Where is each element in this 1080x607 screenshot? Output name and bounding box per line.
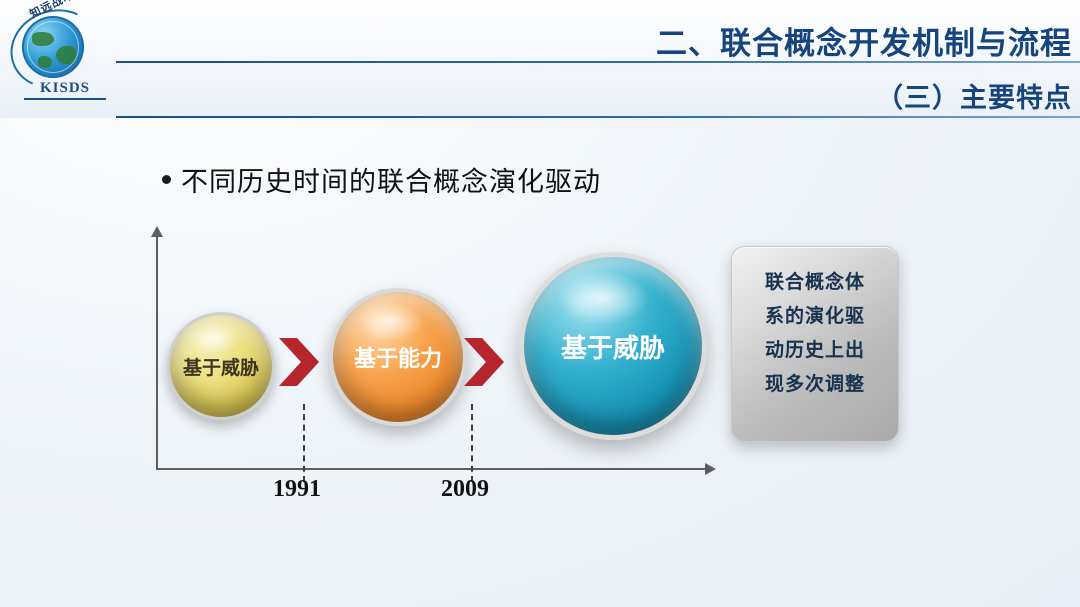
chevron-right-icon-2 (462, 336, 506, 388)
bullet-dot-icon (162, 175, 171, 184)
logo-underline (24, 98, 106, 100)
y-axis (156, 236, 158, 470)
callout-box: 联合概念体 系的演化驱 动历史上出 现多次调整 (731, 246, 899, 442)
tick-label-1991: 1991 (273, 476, 321, 503)
node-label: 基于威胁 (561, 328, 665, 365)
tick-2009 (471, 404, 473, 482)
page-subtitle: （三）主要特点 (876, 76, 1072, 115)
page-title: 二、联合概念开发机制与流程 (656, 18, 1072, 63)
callout-line-1: 联合概念体 (746, 265, 884, 299)
chevron-right-icon (277, 336, 321, 388)
callout-line-2: 系的演化驱 (746, 299, 884, 333)
x-axis (156, 468, 706, 470)
logo-acronym: KISDS (28, 80, 102, 97)
callout-line-3: 动历史上出 (746, 333, 884, 367)
callout-line-4: 现多次调整 (746, 367, 884, 401)
node-threat-based-2: 基于威胁 (519, 252, 707, 440)
node-label: 基于能力 (354, 341, 442, 373)
tick-1991 (303, 404, 305, 482)
slide: 知远战略与防务研究所 KISDS 二、联合概念开发机制与流程 （三）主要特点 不… (0, 0, 1080, 607)
node-threat-based-1: 基于威胁 (167, 312, 275, 420)
bullet-row: 不同历史时间的联合概念演化驱动 (162, 160, 601, 199)
tick-label-2009: 2009 (441, 476, 489, 503)
node-label: 基于威胁 (183, 353, 259, 380)
institute-logo: 知远战略与防务研究所 KISDS (8, 8, 118, 112)
bullet-text: 不同历史时间的联合概念演化驱动 (181, 160, 601, 199)
header-divider-bottom (116, 116, 1080, 118)
node-capability-based: 基于能力 (329, 288, 467, 426)
